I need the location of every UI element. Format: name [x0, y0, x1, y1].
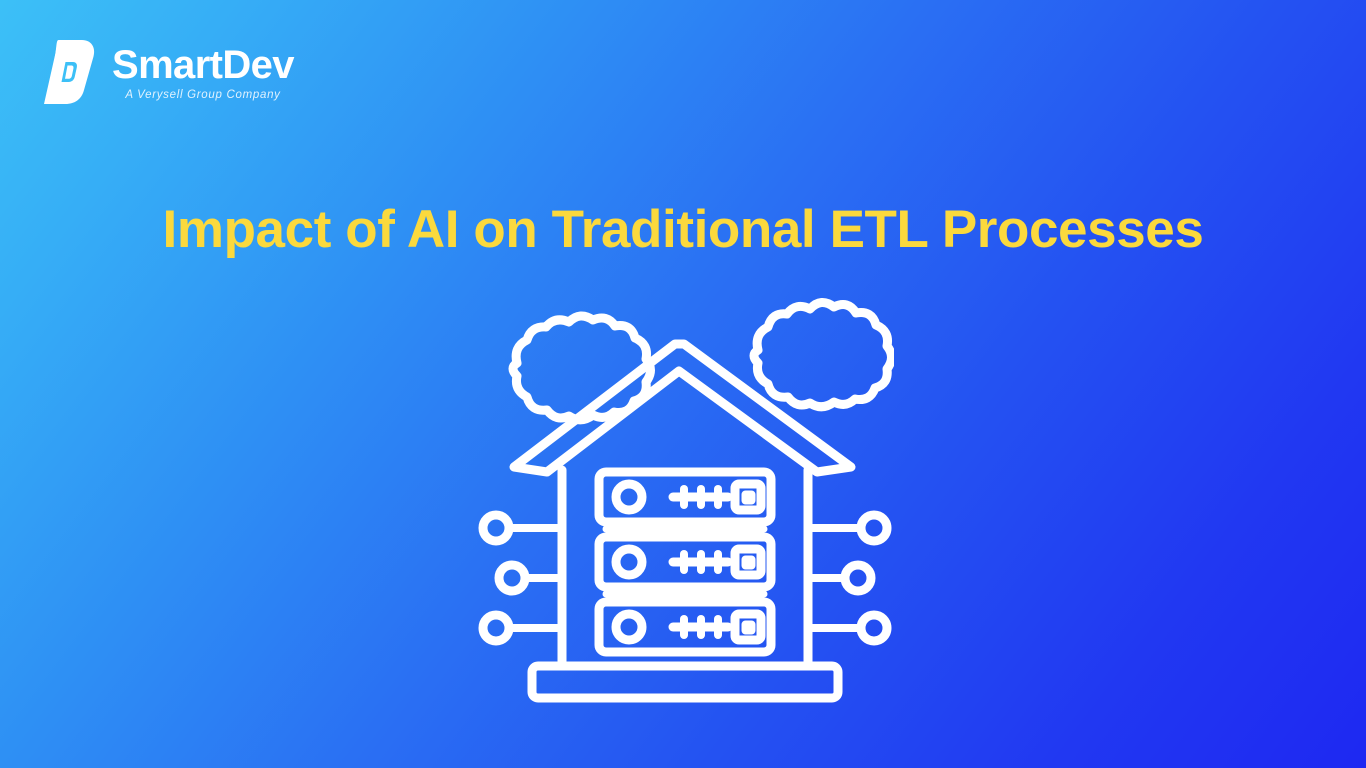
house-base-plinth	[532, 666, 838, 698]
circuit-node-left-icon	[483, 515, 562, 541]
server-status-light-icon	[616, 549, 642, 575]
circuit-node-right-icon	[808, 615, 887, 641]
smartdev-d-mark-icon	[40, 38, 98, 106]
circuit-node-right-icon	[808, 565, 871, 591]
circuit-node-left-icon	[499, 565, 562, 591]
server-slot-bar-icon	[673, 489, 728, 505]
page-title: Impact of AI on Traditional ETL Processe…	[0, 200, 1366, 261]
server-unit	[599, 537, 771, 587]
server-status-light-icon	[616, 484, 642, 510]
server-port-square-icon	[735, 484, 761, 510]
server-slot-bar-icon	[673, 554, 728, 570]
brand-text-block: SmartDev A Verysell Group Company	[112, 42, 294, 103]
server-unit	[599, 602, 771, 652]
brand-tagline: A Verysell Group Company	[112, 89, 294, 103]
brand-name: SmartDev	[112, 44, 294, 86]
server-status-light-icon	[616, 614, 642, 640]
server-port-square-icon	[735, 614, 761, 640]
circuit-node-right-icon	[808, 515, 887, 541]
cloud-right-icon	[754, 302, 892, 406]
server-unit	[599, 472, 771, 522]
server-port-square-icon	[735, 549, 761, 575]
slide-canvas: SmartDev A Verysell Group Company Impact…	[0, 0, 1366, 768]
server-slot-bar-icon	[673, 619, 728, 635]
circuit-node-left-icon	[483, 615, 562, 641]
brand-logo[interactable]: SmartDev A Verysell Group Company	[40, 38, 294, 106]
data-center-house-illustration	[470, 288, 894, 712]
